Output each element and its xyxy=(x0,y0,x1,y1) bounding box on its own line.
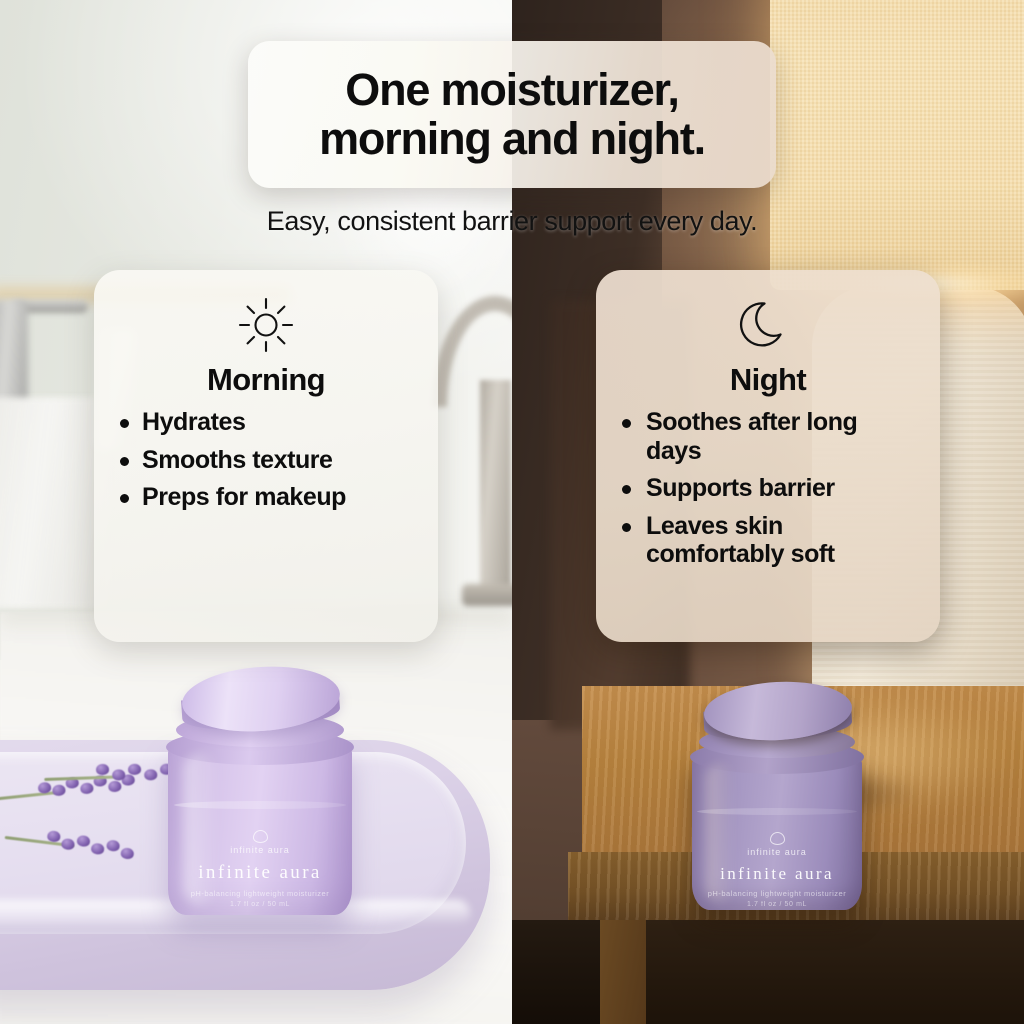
card-benefit-list-night: Soothes after long days Supports barrier… xyxy=(618,408,918,569)
moon-icon xyxy=(618,294,918,356)
list-item: Preps for makeup xyxy=(116,483,416,512)
headline-panel: One moisturizer, morning and night. xyxy=(248,41,776,188)
list-item: Leaves skin comfortably soft xyxy=(618,512,918,569)
jar-highlight xyxy=(706,764,734,902)
headline-line-1: One moisturizer, xyxy=(345,64,678,115)
lavender-bud xyxy=(128,764,141,775)
card-title-night: Night xyxy=(618,362,918,398)
nightstand-leg xyxy=(600,920,646,1024)
advertisement-image: infinite aura infinite aura pH-balancing… xyxy=(0,0,1024,1024)
card-night: Night Soothes after long days Supports b… xyxy=(596,270,940,642)
card-title-morning: Morning xyxy=(116,362,416,398)
jar-highlight xyxy=(184,753,218,905)
product-jar-morning: infinite aura infinite aura pH-balancing… xyxy=(160,655,360,917)
list-item: Hydrates xyxy=(116,408,416,437)
card-benefit-list-morning: Hydrates Smooths texture Preps for makeu… xyxy=(116,408,416,512)
product-jar-night: infinite aura infinite aura pH-balancing… xyxy=(684,672,870,912)
list-item: Soothes after long days xyxy=(618,408,918,465)
page-title: One moisturizer, morning and night. xyxy=(319,66,705,162)
benefit-cards: Morning Hydrates Smooths texture Preps f… xyxy=(0,270,1024,650)
list-item: Supports barrier xyxy=(618,474,918,503)
list-item: Smooths texture xyxy=(116,446,416,475)
nightstand-drawer-shadow xyxy=(646,920,1024,1024)
lampshade-texture xyxy=(770,0,1024,290)
headline-line-2: morning and night. xyxy=(319,113,705,164)
sun-icon xyxy=(116,294,416,356)
lavender-bud xyxy=(112,769,125,780)
lavender-bud xyxy=(144,769,157,780)
lavender-bud xyxy=(96,764,109,775)
subtitle: Easy, consistent barrier support every d… xyxy=(0,206,1024,237)
card-morning: Morning Hydrates Smooths texture Preps f… xyxy=(94,270,438,642)
